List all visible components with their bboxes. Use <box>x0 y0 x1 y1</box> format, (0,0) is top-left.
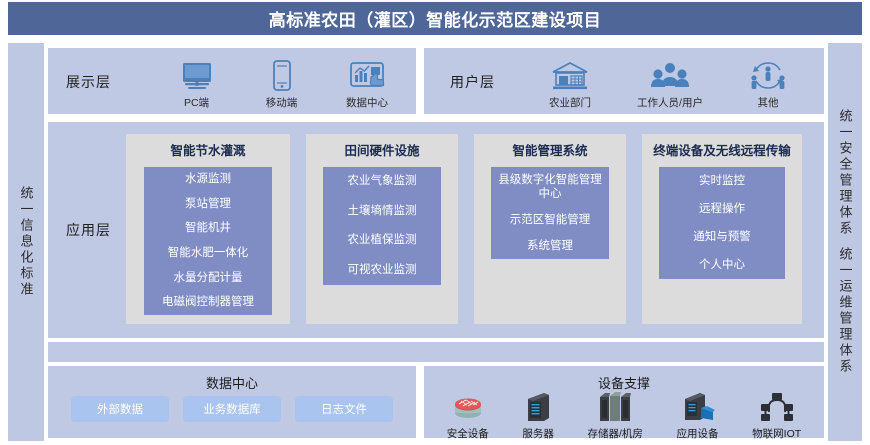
app-column-items: 实时监控 远程操作 通知与预警 个人中心 <box>659 167 785 279</box>
router-security-icon <box>449 390 487 424</box>
display-layer-label: 展示层 <box>66 72 111 92</box>
user-item-caption: 农业部门 <box>549 95 591 110</box>
device-item-server[interactable]: 服务器 <box>522 390 554 441</box>
app-item[interactable]: 电磁阀控制器管理 <box>144 293 272 311</box>
mobile-icon <box>272 59 292 93</box>
device-item-application[interactable]: 应用设备 <box>677 390 719 441</box>
device-item-caption: 服务器 <box>522 426 554 441</box>
sidebar-left-label: 统一信息化标准 <box>20 186 33 298</box>
app-item[interactable]: 实时监控 <box>659 172 785 190</box>
app-item[interactable]: 远程操作 <box>659 200 785 218</box>
people-cycle-icon <box>749 59 787 93</box>
sidebar-left-standards: 统一信息化标准 <box>8 43 44 441</box>
sidebar-right-label-security: 统一安全管理体系 <box>839 109 852 237</box>
user-item-other[interactable]: 其他 <box>720 54 816 110</box>
device-support-panel: 设备支撑 安全设备 <box>424 366 824 438</box>
display-item-mobile[interactable]: 移动端 <box>239 54 324 110</box>
user-item-staff[interactable]: 工作人员/用户 <box>620 54 720 110</box>
app-item[interactable]: 泵站管理 <box>144 195 272 213</box>
application-layer-panel: 应用层 智能节水灌溉 水源监测 泵站管理 智能机井 智能水肥一体化 水量分配计量… <box>48 122 824 338</box>
government-building-icon <box>550 59 590 93</box>
app-column-title: 智能节水灌溉 <box>166 143 249 160</box>
user-layer-panel: 用户层 农业部门 <box>424 48 824 114</box>
app-column-items: 县级数字化智能管理中心 示范区智能管理 系统管理 <box>491 167 609 259</box>
app-item[interactable]: 示范区智能管理 <box>491 211 609 229</box>
device-support-items: 安全设备 服务器 <box>430 390 818 441</box>
device-item-caption: 安全设备 <box>447 426 489 441</box>
app-column-title: 智能管理系统 <box>508 143 591 160</box>
display-item-caption: 移动端 <box>266 95 298 110</box>
server-tower-icon <box>523 390 553 424</box>
display-item-caption: 数据中心 <box>346 95 388 110</box>
device-item-caption: 物联网IOT <box>752 426 801 441</box>
app-column-smart-irrigation: 智能节水灌溉 水源监测 泵站管理 智能机井 智能水肥一体化 水量分配计量 电磁阀… <box>126 134 290 324</box>
device-item-caption: 存储器/机房 <box>588 426 643 441</box>
app-server-icon <box>680 390 716 424</box>
app-item[interactable]: 农业植保监测 <box>323 231 441 249</box>
app-item[interactable]: 县级数字化智能管理中心 <box>491 171 609 204</box>
device-item-caption: 应用设备 <box>677 426 719 441</box>
app-item[interactable]: 智能机井 <box>144 219 272 237</box>
device-item-storage[interactable]: 存储器/机房 <box>588 390 643 441</box>
app-item[interactable]: 智能水肥一体化 <box>144 244 272 262</box>
app-item[interactable]: 农业气象监测 <box>323 172 441 190</box>
storage-rack-icon <box>597 390 633 424</box>
page-title-bar: 高标准农田（灌区）智能化示范区建设项目 <box>8 2 862 35</box>
app-item[interactable]: 水量分配计量 <box>144 269 272 287</box>
user-item-agriculture-dept[interactable]: 农业部门 <box>520 54 620 110</box>
user-item-caption: 工作人员/用户 <box>637 95 703 110</box>
display-item-pc[interactable]: PC端 <box>154 54 239 110</box>
data-center-item-business-db[interactable]: 业务数据库 <box>183 396 281 422</box>
app-item[interactable]: 通知与预警 <box>659 228 785 246</box>
app-column-title: 终端设备及无线远程传输 <box>649 143 795 160</box>
app-column-terminal-transmission: 终端设备及无线远程传输 实时监控 远程操作 通知与预警 个人中心 <box>642 134 802 324</box>
user-item-caption: 其他 <box>758 95 779 110</box>
device-item-iot[interactable]: 物联网IOT <box>752 390 801 441</box>
app-column-title: 田间硬件设施 <box>340 143 423 160</box>
app-column-field-hardware: 田间硬件设施 农业气象监测 土壤墒情监测 农业植保监测 可视农业监测 <box>306 134 458 324</box>
user-layer-label: 用户层 <box>450 72 495 92</box>
layer-divider-strip <box>48 342 824 362</box>
page-title: 高标准农田（灌区）智能化示范区建设项目 <box>269 6 602 31</box>
app-column-items: 农业气象监测 土壤墒情监测 农业植保监测 可视农业监测 <box>323 167 441 285</box>
data-center-panel: 数据中心 外部数据 业务数据库 日志文件 <box>48 366 416 438</box>
app-item[interactable]: 可视农业监测 <box>323 261 441 279</box>
app-column-management-system: 智能管理系统 县级数字化智能管理中心 示范区智能管理 系统管理 <box>474 134 626 324</box>
data-center-item-external[interactable]: 外部数据 <box>71 396 169 422</box>
sidebar-right-label-operations: 统一运维管理体系 <box>839 247 852 375</box>
application-layer-label: 应用层 <box>66 220 111 240</box>
architecture-diagram: 高标准农田（灌区）智能化示范区建设项目 统一信息化标准 统一安全管理体系 统一运… <box>0 0 870 445</box>
user-layer-icons: 农业部门 工作人员/用户 <box>520 54 816 110</box>
display-item-caption: PC端 <box>184 95 209 110</box>
device-item-security[interactable]: 安全设备 <box>447 390 489 441</box>
app-item[interactable]: 系统管理 <box>491 237 609 255</box>
sidebar-right-management: 统一安全管理体系 统一运维管理体系 <box>828 43 862 441</box>
data-center-items: 外部数据 业务数据库 日志文件 <box>48 396 416 422</box>
display-layer-icons: PC端 移动端 <box>154 54 410 110</box>
data-center-item-log-files[interactable]: 日志文件 <box>295 396 393 422</box>
iot-network-icon <box>759 390 795 424</box>
dashboard-touch-icon <box>349 59 385 93</box>
people-group-icon <box>650 59 690 93</box>
display-item-data-center[interactable]: 数据中心 <box>324 54 410 110</box>
app-item[interactable]: 土壤墒情监测 <box>323 202 441 220</box>
monitor-icon <box>180 59 214 93</box>
app-item[interactable]: 个人中心 <box>659 256 785 274</box>
display-layer-panel: 展示层 PC端 <box>48 48 416 114</box>
app-column-items: 水源监测 泵站管理 智能机井 智能水肥一体化 水量分配计量 电磁阀控制器管理 <box>144 167 272 315</box>
app-item[interactable]: 水源监测 <box>144 170 272 188</box>
data-center-title: 数据中心 <box>48 373 416 392</box>
